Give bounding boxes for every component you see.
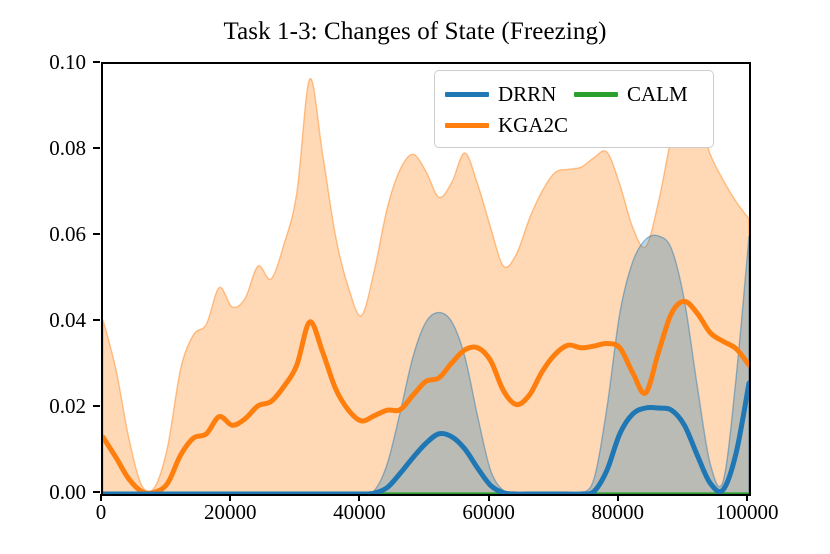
x-axis-tick-label: 40000 — [333, 502, 386, 523]
x-axis-tick-mark — [488, 494, 490, 501]
legend-grid: DRRNCALMKGA2C — [445, 79, 703, 141]
y-axis-tick-mark — [93, 147, 100, 149]
y-axis-tick-mark — [93, 61, 100, 63]
legend-swatch-kga2c-icon — [445, 123, 489, 128]
x-axis-tick-label: 80000 — [592, 502, 645, 523]
legend-label: CALM — [627, 84, 688, 105]
chart-legend: DRRNCALMKGA2C — [434, 70, 714, 148]
legend-item-calm[interactable]: CALM — [574, 84, 703, 105]
y-axis-tick-label: 0.00 — [49, 482, 86, 503]
y-axis-tick-label: 0.04 — [49, 310, 86, 331]
legend-label: KGA2C — [498, 115, 568, 136]
legend-swatch-drrn-icon — [445, 92, 489, 97]
legend-label: DRRN — [498, 84, 556, 105]
legend-item-kga2c[interactable]: KGA2C — [445, 115, 574, 136]
x-axis-tick-label: 20000 — [204, 502, 257, 523]
x-axis-tick-label: 60000 — [462, 502, 515, 523]
chart-title: Task 1-3: Changes of State (Freezing) — [0, 18, 830, 46]
y-axis-tick-label: 0.06 — [49, 224, 86, 245]
x-axis-tick-mark — [229, 494, 231, 501]
legend-swatch-calm-icon — [574, 92, 618, 97]
y-axis-tick-label: 0.02 — [49, 396, 86, 417]
x-axis-tick-label: 100000 — [716, 502, 779, 523]
y-axis-tick-label: 0.08 — [49, 138, 86, 159]
y-axis-tick-mark — [93, 491, 100, 493]
x-axis-tick-mark — [617, 494, 619, 501]
y-axis-tick-mark — [93, 405, 100, 407]
x-axis-tick-label: 0 — [96, 502, 107, 523]
y-axis-tick-mark — [93, 233, 100, 235]
y-axis-tick-label: 0.10 — [49, 52, 86, 73]
x-axis-tick-mark — [100, 494, 102, 501]
x-axis-tick-mark — [358, 494, 360, 501]
legend-item-drrn[interactable]: DRRN — [445, 84, 574, 105]
y-axis-tick-mark — [93, 319, 100, 321]
x-axis-tick-mark — [746, 494, 748, 501]
chart-figure: Task 1-3: Changes of State (Freezing) DR… — [0, 0, 830, 554]
